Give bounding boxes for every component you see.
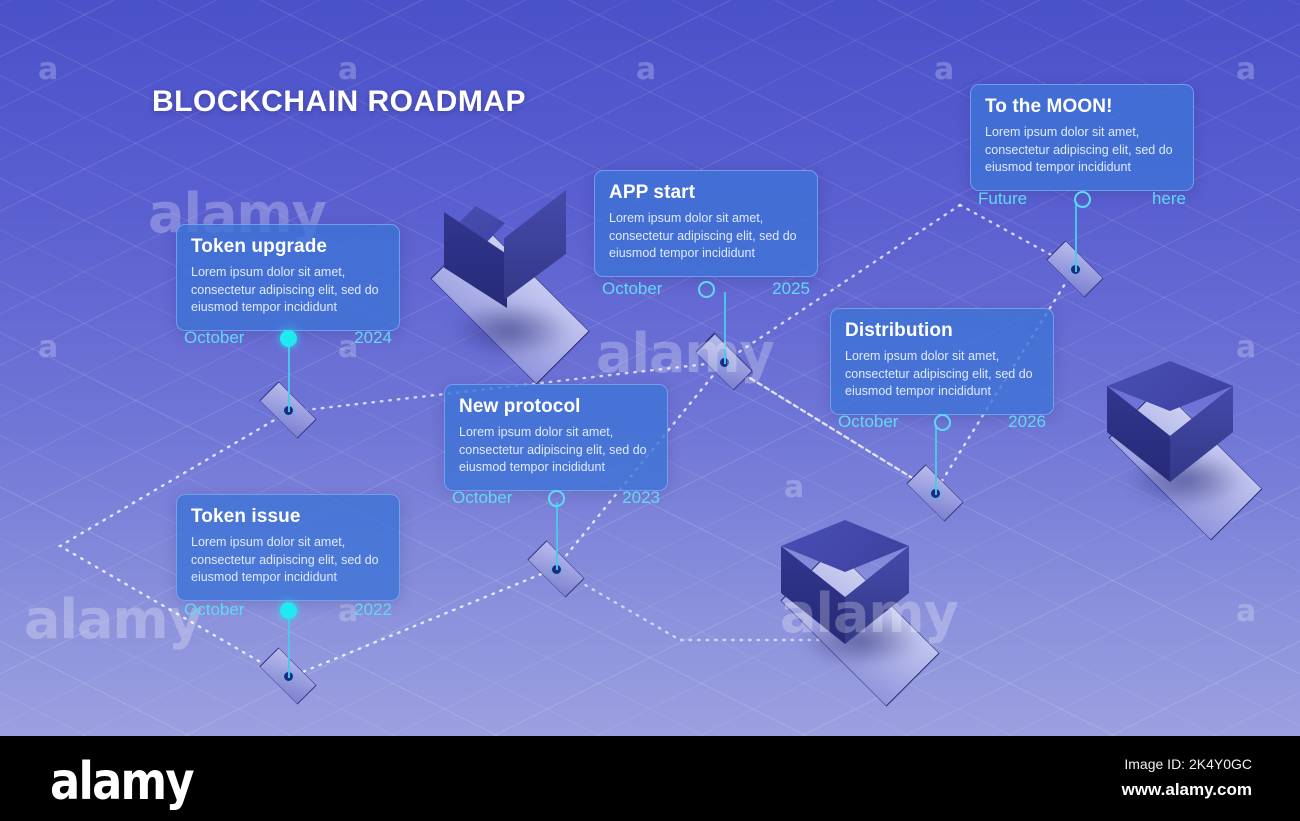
milestone-stem-to-the-moon — [1075, 202, 1077, 272]
milestone-heading: Distribution — [845, 320, 1039, 342]
artwork-canvas: a a a a a alamy a a alamy a a alamy a al… — [0, 0, 1300, 736]
milestone-year: 2025 — [724, 279, 810, 299]
milestone-year: here — [1100, 189, 1186, 209]
milestone-heading: Token issue — [191, 506, 385, 528]
milestone-dot-icon — [1074, 191, 1091, 208]
milestone-stem-new-protocol — [556, 502, 558, 570]
milestone-stem-app-start — [724, 292, 726, 364]
milestone-body: Lorem ipsum dolor sit amet, consectetur … — [845, 348, 1039, 401]
milestone-card-token-issue[interactable]: Token issue Lorem ipsum dolor sit amet, … — [176, 494, 400, 601]
iso-cube-left — [410, 170, 610, 380]
milestone-stem-token-upgrade — [288, 340, 290, 412]
milestone-card-token-upgrade[interactable]: Token upgrade Lorem ipsum dolor sit amet… — [176, 224, 400, 331]
milestone-date-app-start: October 2025 — [594, 279, 818, 299]
milestone-body: Lorem ipsum dolor sit amet, consectetur … — [191, 534, 385, 587]
milestone-month: October — [452, 488, 538, 508]
milestone-year: 2023 — [574, 488, 660, 508]
milestone-year: 2026 — [960, 412, 1046, 432]
infographic-root: a a a a a alamy a a alamy a a alamy a al… — [0, 0, 1300, 821]
milestone-stem-distribution — [935, 425, 937, 495]
image-id-label: Image ID: 2K4Y0GC — [1124, 756, 1252, 772]
milestone-body: Lorem ipsum dolor sit amet, consectetur … — [191, 264, 385, 317]
milestone-card-app-start[interactable]: APP start Lorem ipsum dolor sit amet, co… — [594, 170, 818, 277]
milestone-month: October — [184, 328, 270, 348]
milestone-card-distribution[interactable]: Distribution Lorem ipsum dolor sit amet,… — [830, 308, 1054, 415]
page-title: BLOCKCHAIN ROADMAP — [152, 85, 526, 119]
milestone-year: 2022 — [306, 600, 392, 620]
milestone-dot-icon — [698, 281, 715, 298]
milestone-dot-icon — [934, 414, 951, 431]
milestone-date-token-issue: October 2022 — [176, 600, 400, 620]
cube-body — [781, 520, 909, 660]
milestone-body: Lorem ipsum dolor sit amet, consectetur … — [459, 424, 653, 477]
alamy-url: www.alamy.com — [1122, 780, 1252, 800]
milestone-body: Lorem ipsum dolor sit amet, consectetur … — [985, 124, 1179, 177]
milestone-dot-icon — [280, 330, 297, 347]
milestone-dot-icon — [280, 602, 297, 619]
milestone-date-distribution: October 2026 — [830, 412, 1054, 432]
milestone-month: Future — [978, 189, 1064, 209]
milestone-month: October — [602, 279, 688, 299]
milestone-stem-token-issue — [288, 612, 290, 678]
milestone-heading: Token upgrade — [191, 236, 385, 258]
milestone-date-new-protocol: October 2023 — [444, 488, 668, 508]
milestone-heading: New protocol — [459, 396, 653, 418]
iso-cube-center — [755, 510, 965, 690]
milestone-month: October — [838, 412, 924, 432]
iso-cube-right — [1085, 355, 1285, 530]
milestone-card-new-protocol[interactable]: New protocol Lorem ipsum dolor sit amet,… — [444, 384, 668, 491]
milestone-month: October — [184, 600, 270, 620]
milestone-dot-icon — [548, 490, 565, 507]
cube-body — [444, 178, 566, 328]
milestone-heading: APP start — [609, 182, 803, 204]
alamy-logo: alamy — [50, 752, 193, 812]
milestone-date-token-upgrade: October 2024 — [176, 328, 400, 348]
alamy-footer-bar: alamy Image ID: 2K4Y0GC www.alamy.com — [0, 736, 1300, 821]
milestone-body: Lorem ipsum dolor sit amet, consectetur … — [609, 210, 803, 263]
milestone-heading: To the MOON! — [985, 96, 1179, 118]
milestone-year: 2024 — [306, 328, 392, 348]
milestone-date-to-the-moon: Future here — [970, 189, 1194, 209]
cube-body — [1107, 361, 1233, 497]
milestone-card-to-the-moon[interactable]: To the MOON! Lorem ipsum dolor sit amet,… — [970, 84, 1194, 191]
